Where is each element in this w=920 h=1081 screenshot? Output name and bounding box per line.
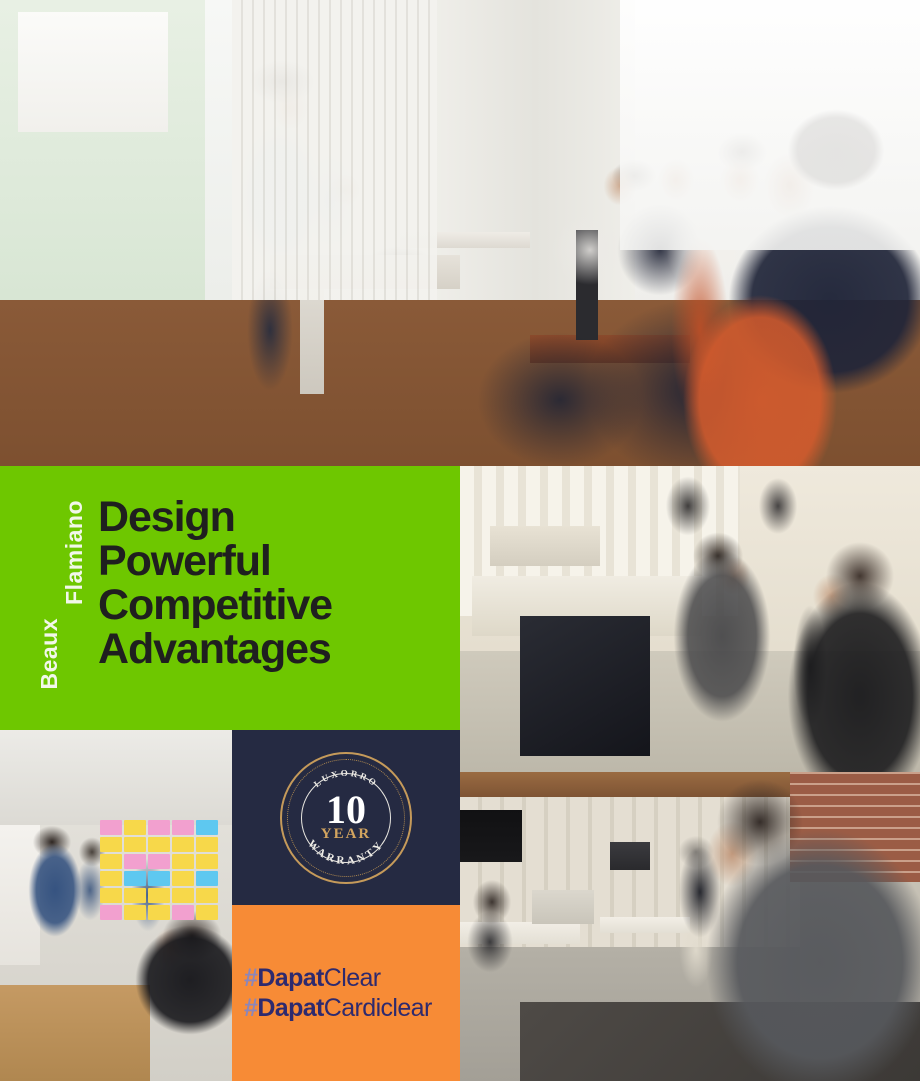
sticky-note: [124, 854, 146, 869]
sticky-note: [148, 820, 170, 835]
sticky-note: [100, 905, 122, 920]
hashtag-line-1: #DapatClear: [244, 963, 460, 994]
seal-unit: YEAR: [321, 826, 372, 843]
headline-line-4: Advantages: [98, 628, 332, 672]
sticky-note: [148, 837, 170, 852]
sticky-note: [124, 888, 146, 903]
sticky-note: [196, 905, 218, 920]
photo-studio-setup: [460, 466, 920, 772]
hash-symbol-icon: #: [244, 964, 257, 992]
byline: Beaux Flamiano: [38, 500, 88, 690]
sticky-note: [172, 888, 194, 903]
sticky-note-wall: [100, 820, 232, 940]
sticky-note: [196, 837, 218, 852]
sticky-note: [172, 871, 194, 886]
byline-first-name: Beaux: [38, 618, 61, 690]
hashtag-1-rest: Clear: [324, 964, 381, 992]
sticky-note: [172, 905, 194, 920]
sticky-note: [100, 871, 122, 886]
headline-line-3: Competitive: [98, 584, 332, 628]
sticky-note: [196, 854, 218, 869]
sticky-note: [172, 854, 194, 869]
sticky-note: [148, 888, 170, 903]
title-panel: Beaux Flamiano Design Powerful Competiti…: [0, 466, 460, 730]
sticky-note: [100, 888, 122, 903]
sticky-note: [124, 905, 146, 920]
sticky-note: [148, 871, 170, 886]
seal-inner-ring: 10 YEAR: [301, 773, 391, 863]
sticky-note: [100, 820, 122, 835]
sticky-note: [124, 820, 146, 835]
sticky-note: [172, 820, 194, 835]
hashtag-2-bold: Dapat: [257, 994, 323, 1022]
page-title: Design Powerful Competitive Advantages: [98, 496, 332, 671]
sticky-note: [148, 905, 170, 920]
sticky-note: [124, 837, 146, 852]
sticky-note: [100, 837, 122, 852]
hashtag-line-2: #DapatCardiclear: [244, 993, 460, 1024]
warranty-badge-panel: LUXORRO WARRANTY 10 YEAR: [232, 730, 460, 905]
sticky-note: [196, 888, 218, 903]
photo-workshop-stickynotes: [0, 730, 232, 1081]
sticky-note: [172, 837, 194, 852]
sticky-note: [100, 854, 122, 869]
promo-collage: Beaux Flamiano Design Powerful Competiti…: [0, 0, 920, 1081]
seal-number: 10: [326, 792, 366, 829]
window-light: [620, 0, 920, 250]
byline-last-name: Flamiano: [63, 500, 86, 605]
sticky-note: [196, 820, 218, 835]
photo-food-shoot: [460, 772, 920, 1081]
hashtag-panel: #DapatClear #DapatCardiclear: [232, 905, 460, 1081]
folding-partition: [232, 0, 437, 300]
sticky-note: [124, 871, 146, 886]
headline-line-1: Design: [98, 496, 332, 540]
headline-line-2: Powerful: [98, 540, 332, 584]
hashtag-1-bold: Dapat: [257, 964, 323, 992]
sticky-note: [196, 871, 218, 886]
sticky-note: [148, 854, 170, 869]
photo-seminar-audience: [0, 0, 920, 466]
hash-symbol-icon: #: [244, 994, 257, 1022]
warranty-seal-icon: LUXORRO WARRANTY 10 YEAR: [280, 752, 412, 884]
hashtag-2-rest: Cardiclear: [324, 994, 432, 1022]
